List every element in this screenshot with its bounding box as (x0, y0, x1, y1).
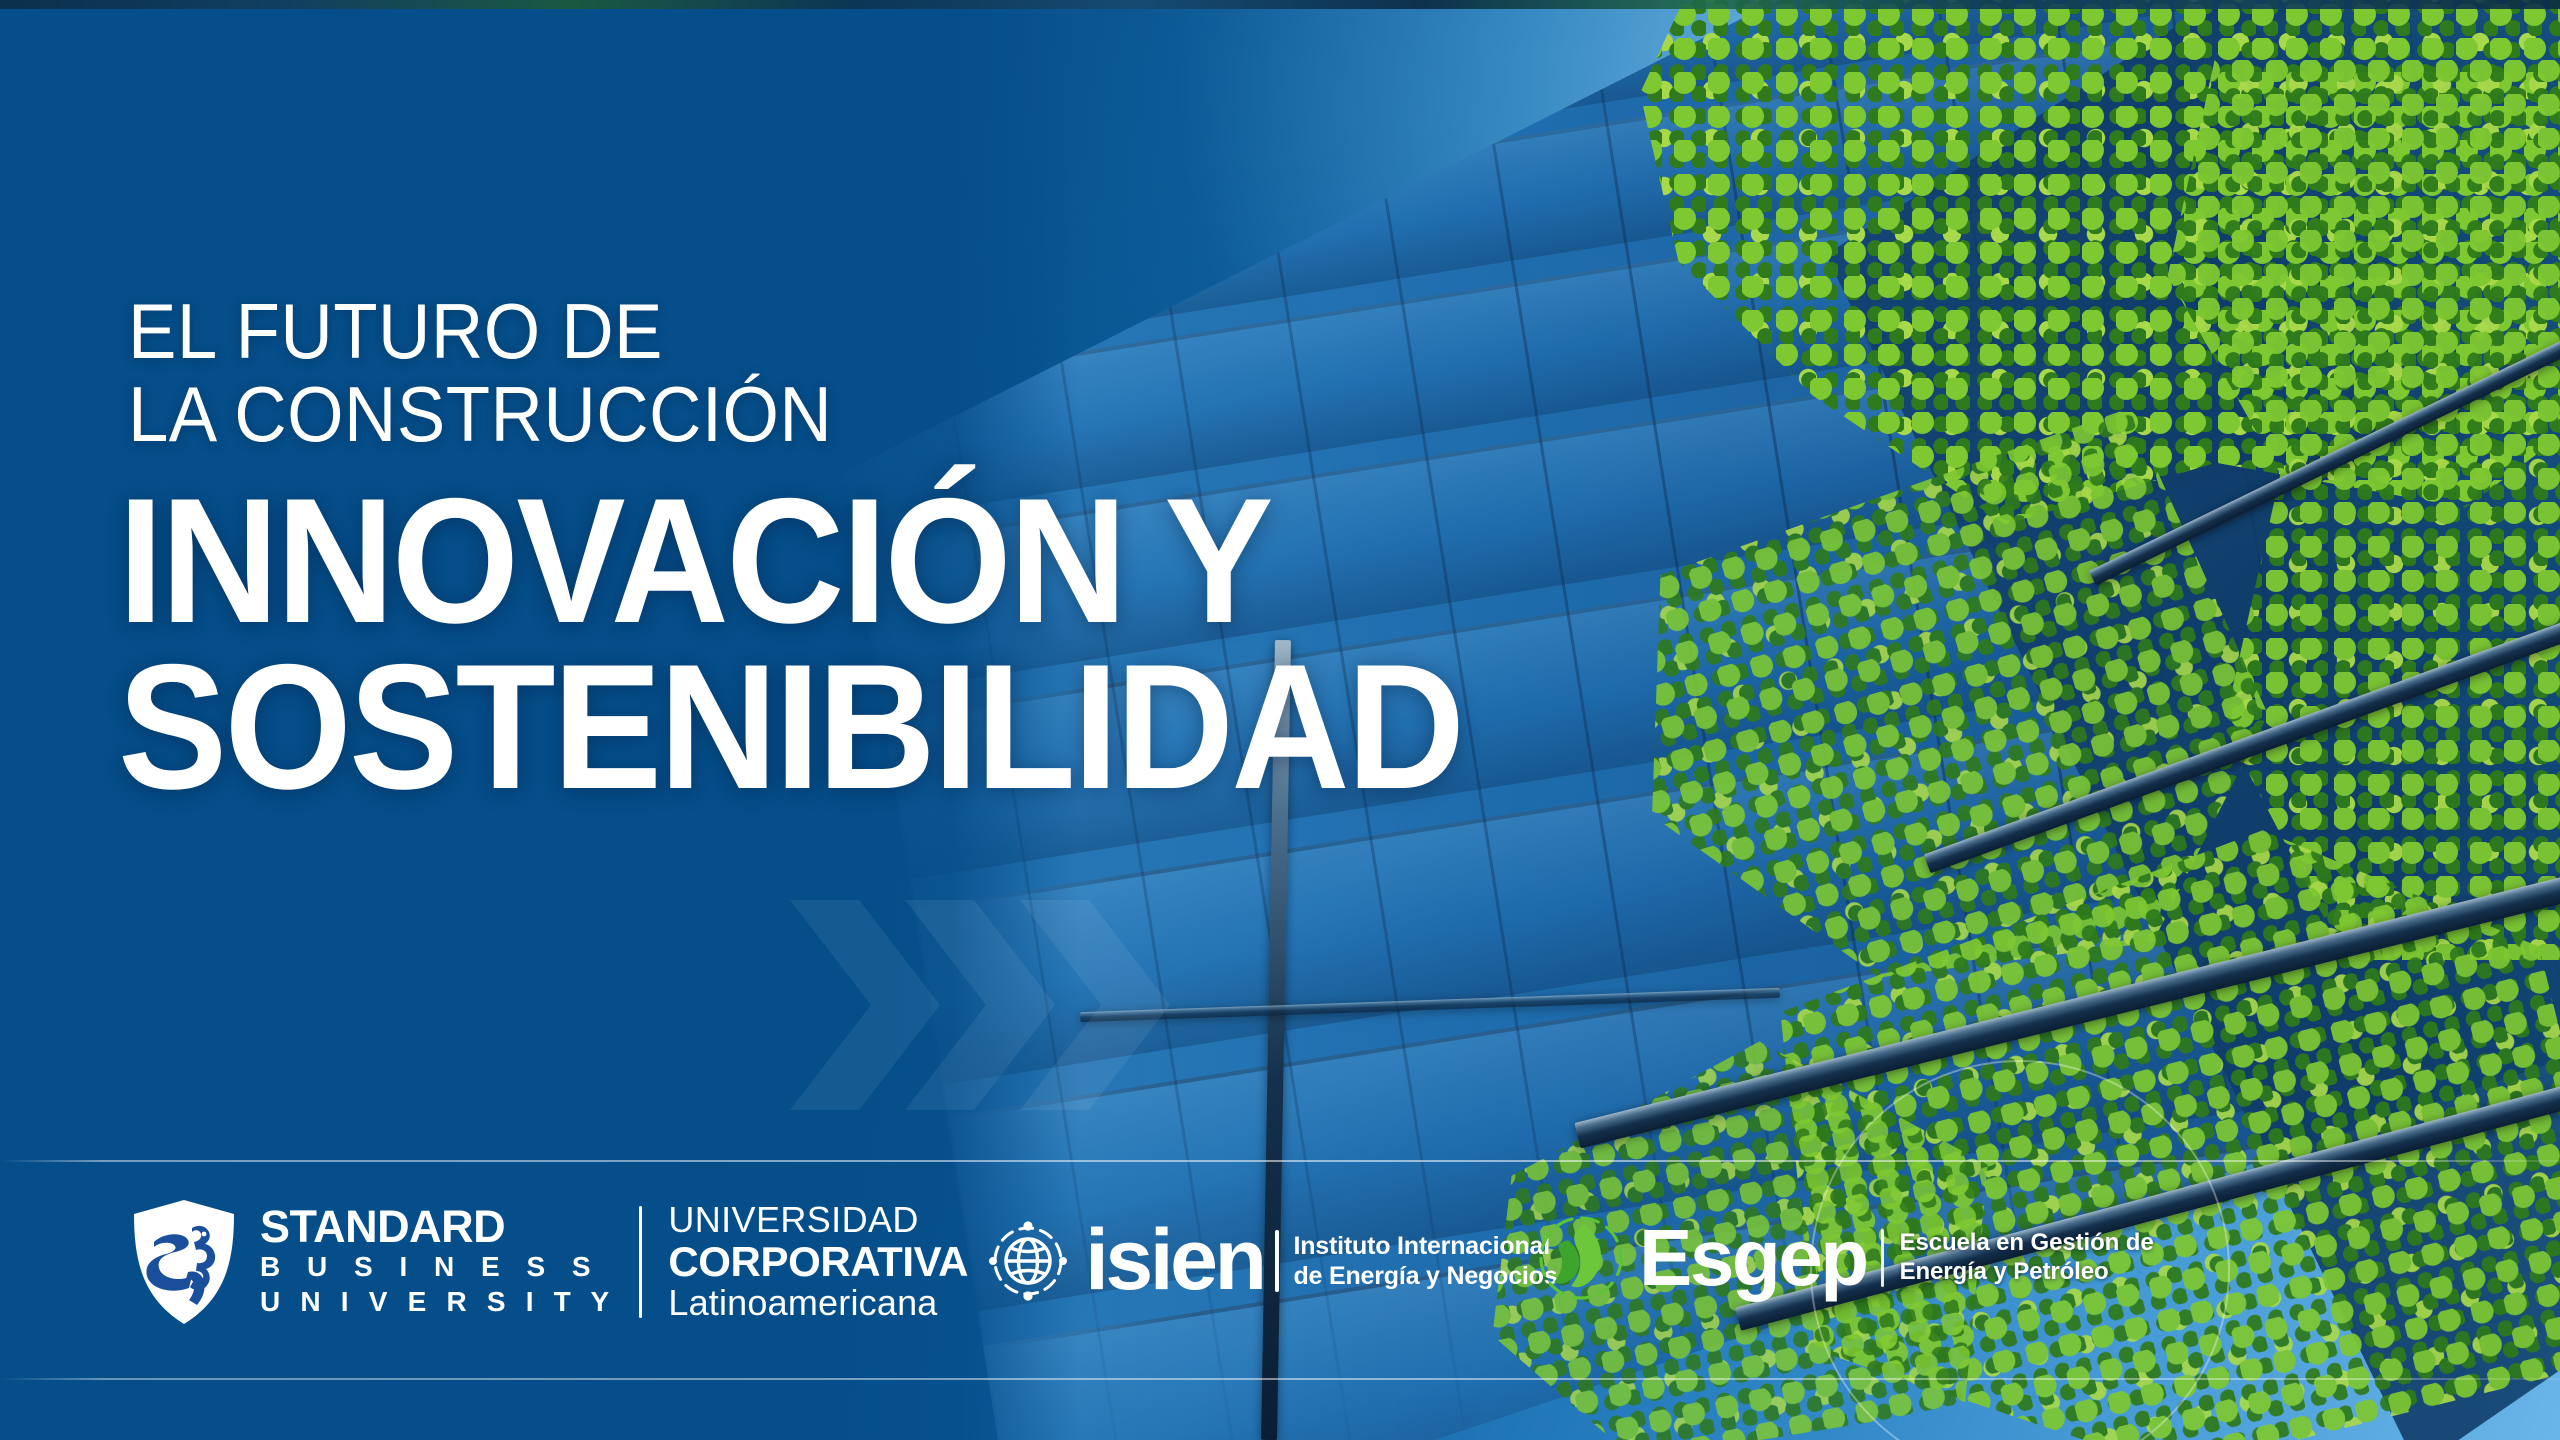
green-leaf-flame-circle-icon (1535, 1212, 1627, 1304)
isien-tagline-line-2: de Energía y Negocios (1293, 1261, 1557, 1291)
logo-standard-business-university[interactable]: STANDARD B U S I N E S S U N I V E R S I… (130, 1198, 968, 1326)
chevron-decoration (790, 900, 1210, 1110)
page-title: INNOVACIÓN Y SOSTENIBILIDAD (118, 478, 1462, 809)
sbu-tagline-line-3: Latinoamericana (668, 1283, 968, 1323)
logo-bar-divider-bottom (0, 1378, 2560, 1380)
isien-tagline: Instituto Internacional de Energía y Neg… (1293, 1231, 1557, 1291)
sbu-name-line-3: U N I V E R S I T Y (260, 1284, 615, 1319)
chevron-right-icon (790, 900, 940, 1110)
sbu-name-line-1: STANDARD (260, 1204, 615, 1249)
sbu-wordmark: STANDARD B U S I N E S S U N I V E R S I… (260, 1200, 968, 1324)
esgep-tagline: Escuela en Gestión de Energía y Petróleo (1900, 1229, 2154, 1287)
esgep-tagline-line-1: Escuela en Gestión de (1900, 1229, 2154, 1258)
logo-isien[interactable]: isien Instituto Internacional de Energía… (985, 1218, 1557, 1304)
esgep-wordmark: Esgep (1639, 1221, 1867, 1295)
logo-bar-divider-top (0, 1160, 2560, 1162)
shield-lion-monogram-icon (130, 1198, 238, 1326)
sbu-divider (639, 1206, 642, 1318)
promo-banner: EL FUTURO DE LA CONSTRUCCIÓN INNOVACIÓN … (0, 0, 2560, 1440)
sbu-tagline-line-2: CORPORATIVA (668, 1240, 968, 1284)
headline-line-2: SOSTENIBILIDAD (118, 644, 1462, 810)
sbu-tagline-line-1: UNIVERSIDAD (668, 1200, 968, 1240)
logo-esgep[interactable]: Esgep Escuela en Gestión de Energía y Pe… (1535, 1212, 2154, 1304)
sbu-tagline: UNIVERSIDAD CORPORATIVA Latinoamericana (668, 1200, 968, 1324)
kicker-text: EL FUTURO DE LA CONSTRUCCIÓN (128, 290, 832, 455)
sbu-name-line-2: B U S I N E S S (260, 1249, 615, 1284)
isien-tagline-line-1: Instituto Internacional (1293, 1231, 1557, 1261)
isien-divider (1275, 1230, 1279, 1292)
globe-orbit-icon (985, 1218, 1071, 1304)
sbu-name: STANDARD B U S I N E S S U N I V E R S I… (260, 1204, 615, 1319)
isien-wordmark: isien (1085, 1222, 1263, 1299)
esgep-tagline-line-2: Energía y Petróleo (1900, 1258, 2154, 1287)
top-edge-artifact (0, 0, 2560, 9)
esgep-divider (1881, 1229, 1884, 1287)
